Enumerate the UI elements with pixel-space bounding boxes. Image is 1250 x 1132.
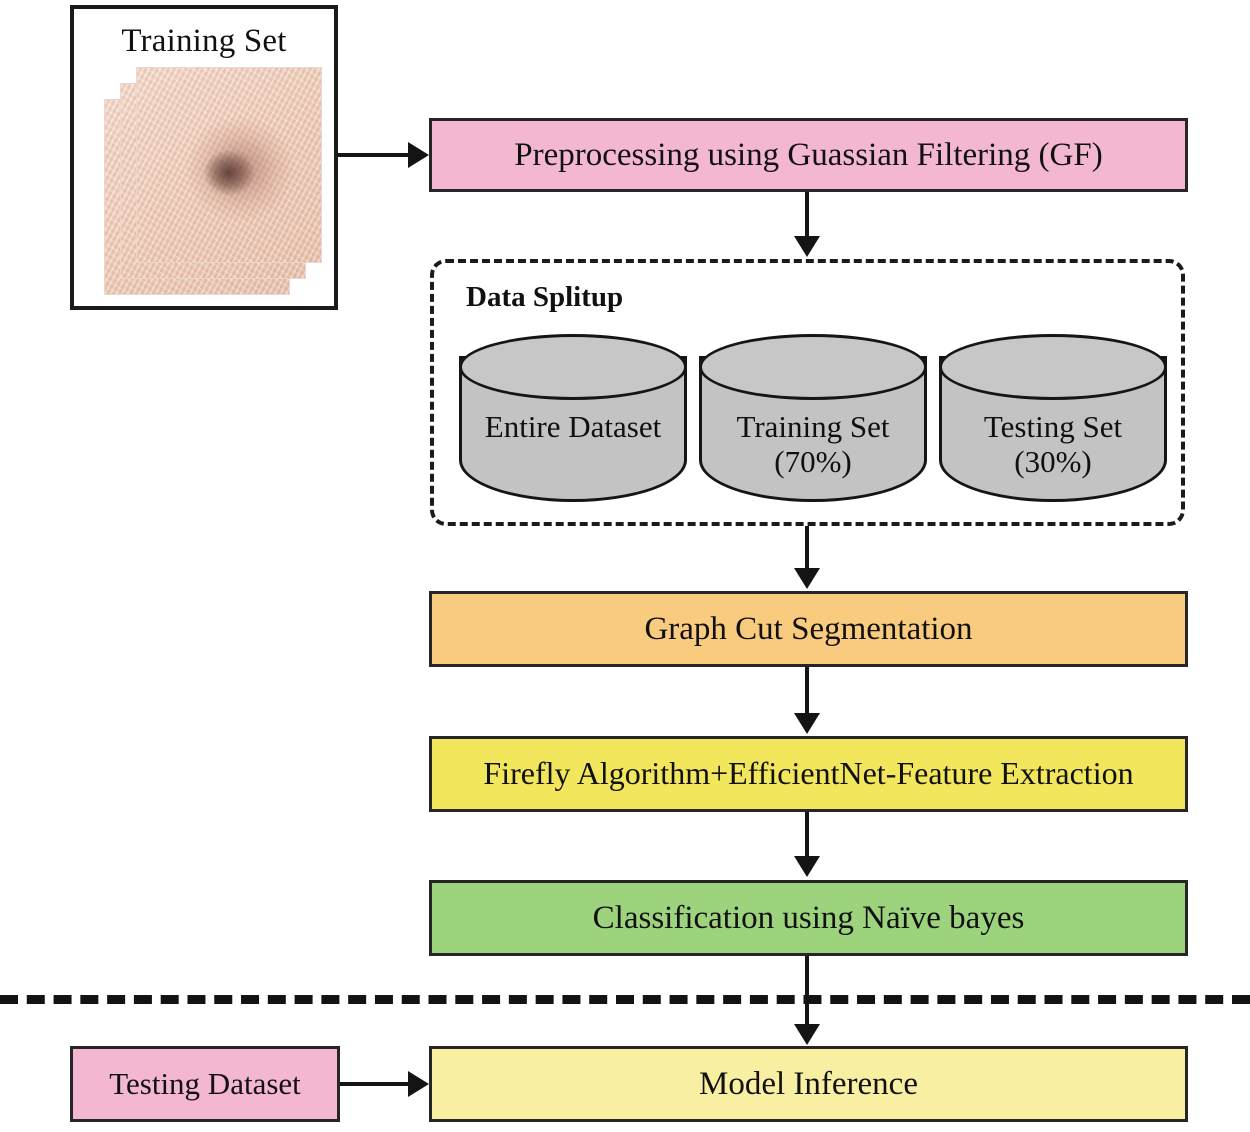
lesion-image-front [136,67,322,263]
arrowhead-classification-to-inference [794,1024,820,1045]
connector-classification-to-inference [805,956,809,1026]
cylinder-label-text: Training Set [736,409,889,444]
connector-segmentation-to-features [805,667,809,715]
classification-step-box[interactable]: Classification using Naïve bayes [429,880,1188,956]
model-inference-box[interactable]: Model Inference [429,1046,1188,1122]
cylinder-top-ellipse [459,334,687,400]
cylinder-percent-text: (30%) [939,445,1167,480]
cylinder-top-ellipse [939,334,1167,400]
cylinder-top-ellipse [699,334,927,400]
data-splitup-container: Data Splitup Entire Dataset Training Set… [430,259,1185,526]
connector-source-to-preprocess [338,153,410,157]
testing-dataset-box[interactable]: Testing Dataset [70,1046,340,1122]
cylinder-label-text: Entire Dataset [485,409,661,444]
cylinder-label-text: Testing Set [984,409,1122,444]
connector-features-to-classification [805,812,809,858]
arrowhead-source-to-preprocess [408,142,429,168]
arrowhead-preprocess-to-split [794,236,820,257]
flowchart-canvas: Training Set Preprocessing using Guassia… [0,0,1250,1132]
arrowhead-split-to-segmentation [794,568,820,589]
connector-split-to-segmentation [805,526,809,570]
arrowhead-segmentation-to-features [794,713,820,734]
cylinder-label: Testing Set (30%) [939,410,1167,479]
arrowhead-features-to-classification [794,856,820,877]
cylinder-label: Training Set (70%) [699,410,927,479]
preprocessing-step-box[interactable]: Preprocessing using Guassian Filtering (… [429,118,1188,192]
dermoscopic-lesion-image-stack [104,67,322,295]
training-set-title: Training Set [74,23,334,60]
arrowhead-testing-to-inference [408,1071,429,1097]
training-set-source-box: Training Set [70,5,338,310]
cylinder-percent-text: (70%) [699,445,927,480]
feature-extraction-step-box[interactable]: Firefly Algorithm+EfficientNet-Feature E… [429,736,1188,812]
segmentation-step-box[interactable]: Graph Cut Segmentation [429,591,1188,667]
cylinder-training-set[interactable]: Training Set (70%) [699,334,927,502]
connector-testing-to-inference [340,1082,410,1086]
connector-preprocess-to-split [805,192,809,238]
cylinder-testing-set[interactable]: Testing Set (30%) [939,334,1167,502]
cylinder-label: Entire Dataset [459,410,687,445]
data-splitup-title: Data Splitup [466,281,623,314]
cylinder-entire-dataset[interactable]: Entire Dataset [459,334,687,502]
phase-divider-dashed-line [0,995,1250,1004]
